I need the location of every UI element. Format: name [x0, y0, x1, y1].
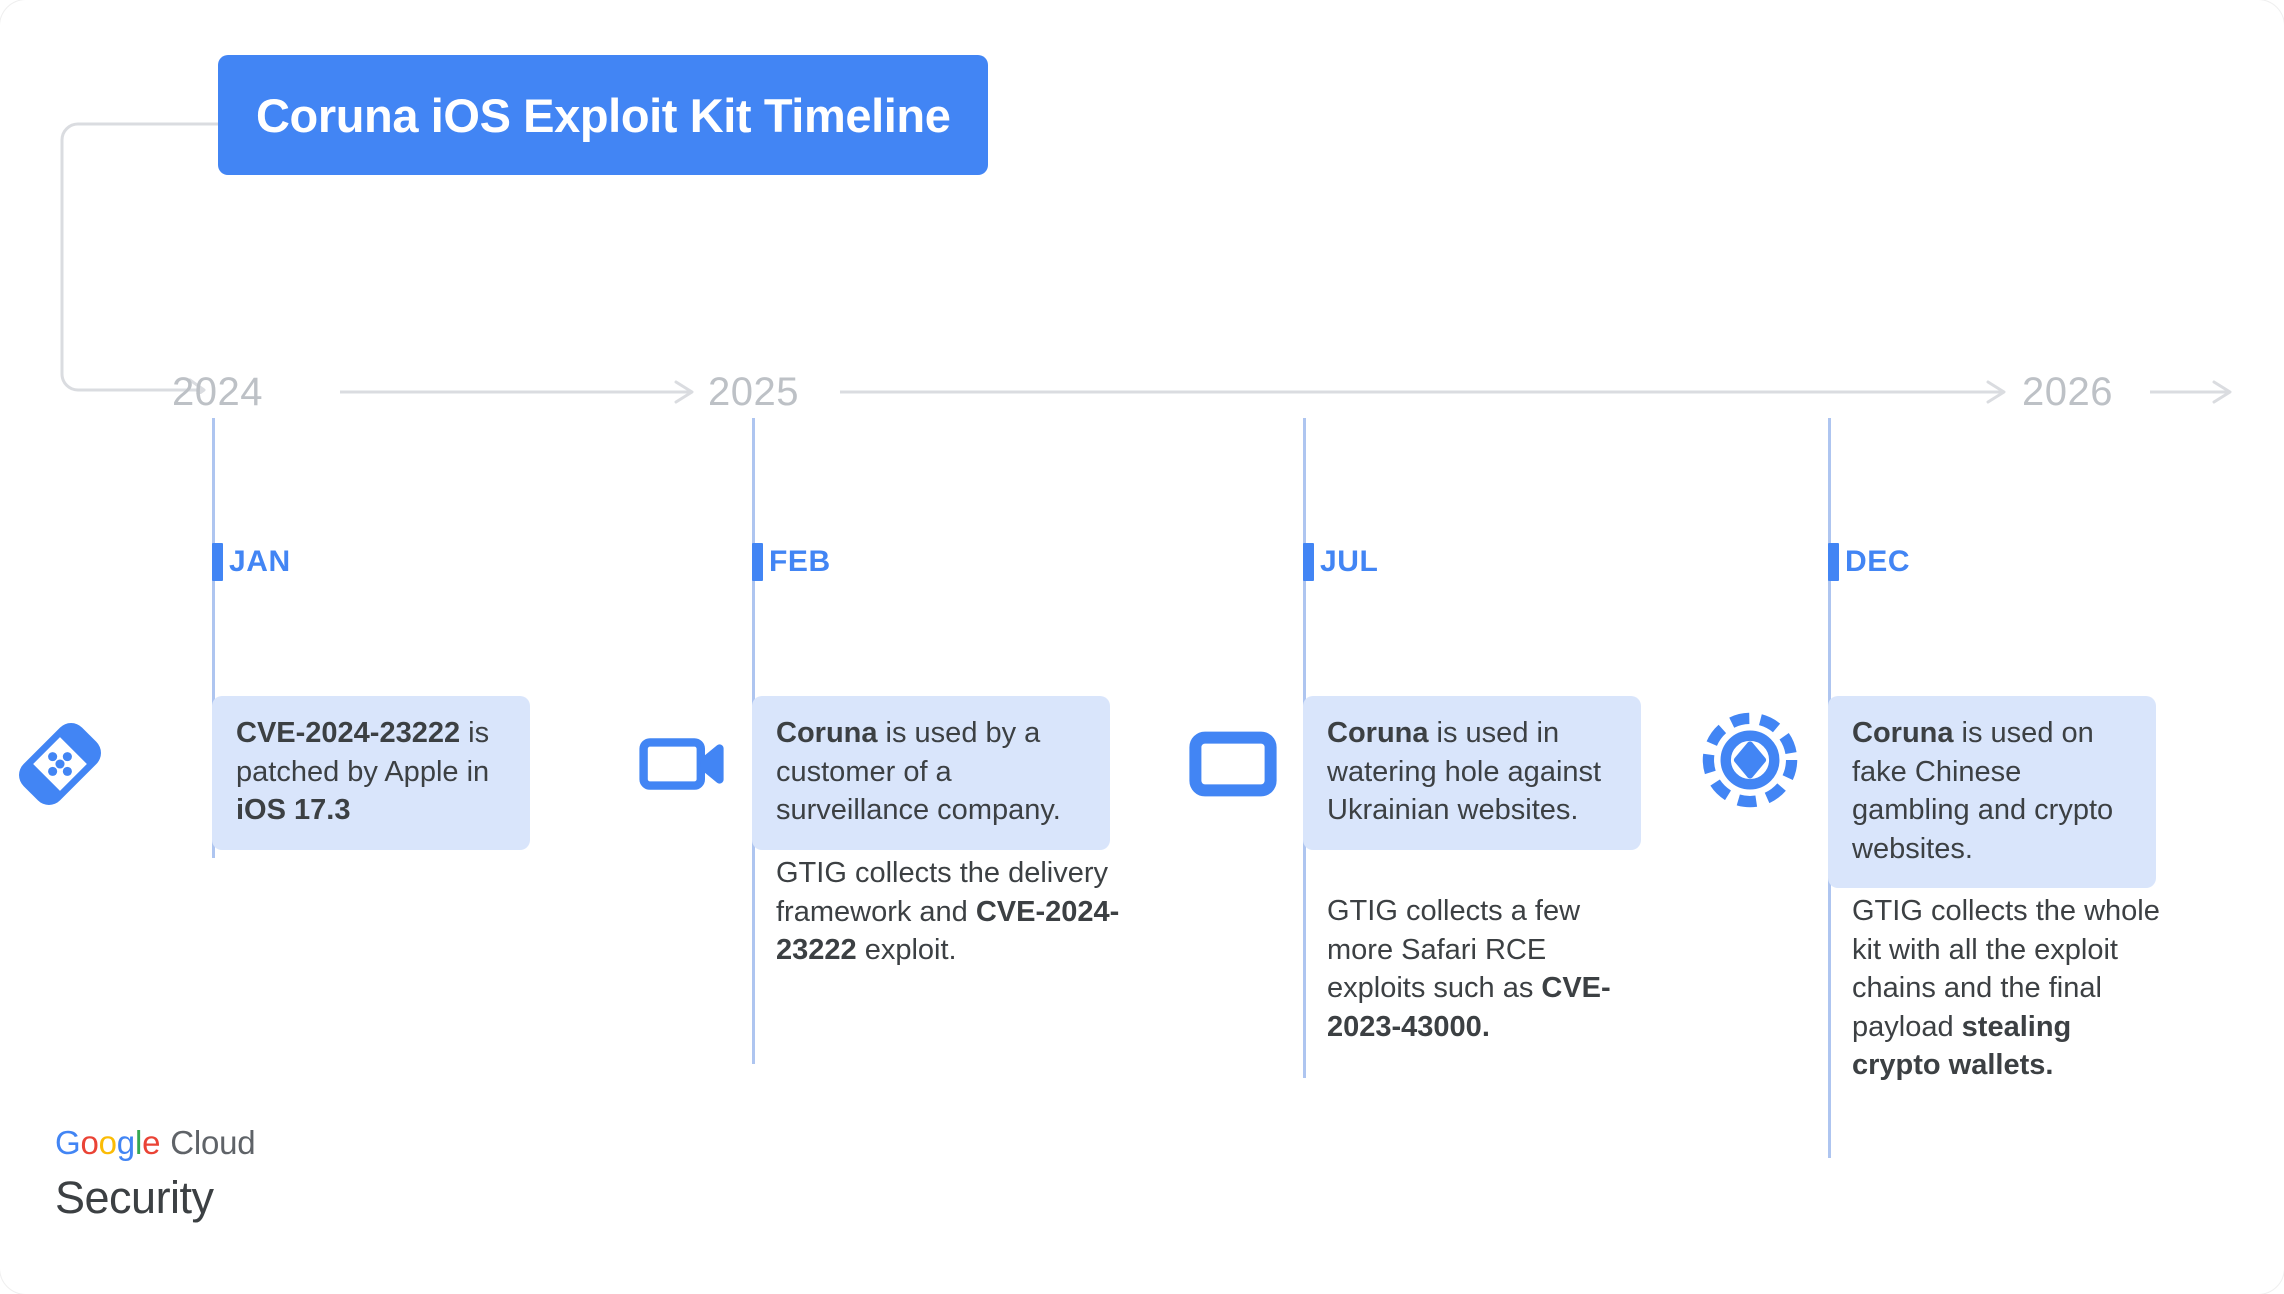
product-name: Security	[55, 1173, 255, 1223]
month-label: DEC	[1845, 547, 1910, 577]
casino-chip-icon	[1698, 708, 1802, 812]
month-marker-feb: FEB	[752, 543, 831, 581]
bandage-patch-icon	[8, 712, 112, 816]
google-letter-g1: G	[55, 1124, 80, 1161]
month-marker-jan: JAN	[212, 543, 291, 581]
event-card-text: Coruna is used by a customer of a survei…	[776, 717, 1061, 826]
cloud-word: Cloud	[170, 1124, 255, 1161]
month-marker-dec: DEC	[1828, 543, 1910, 581]
event-card-feb: Coruna is used by a customer of a survei…	[752, 696, 1110, 850]
event-card-dec: Coruna is used on fake Chinese gambling …	[1828, 696, 2156, 888]
event-icon-slot	[1690, 700, 1810, 820]
google-letter-o1: o	[80, 1124, 98, 1161]
event-card-text: Coruna is used on fake Chinese gambling …	[1852, 717, 2113, 865]
month-tick-icon	[752, 543, 763, 581]
footer-logo: GoogleCloud Security	[55, 1125, 255, 1223]
year-label-2026: 2026	[2022, 362, 2113, 422]
month-label: JAN	[229, 547, 291, 577]
event-subtext-dec: GTIG collects the whole kit with all the…	[1828, 892, 2166, 1085]
event-icon-slot	[622, 704, 742, 824]
event-subtext-jul: GTIG collects a few more Safari RCE expl…	[1303, 892, 1651, 1046]
google-letter-o2: o	[99, 1124, 117, 1161]
month-tick-icon	[212, 543, 223, 581]
event-card-jan: CVE-2024-23222 is patched by Apple in iO…	[212, 696, 530, 850]
month-label: JUL	[1320, 547, 1378, 577]
browser-window-icon	[1185, 716, 1281, 812]
google-letter-g2: g	[117, 1124, 135, 1161]
event-card-text: Coruna is used in watering hole against …	[1327, 717, 1601, 826]
event-icon-slot	[1173, 704, 1293, 824]
video-camera-icon	[634, 716, 730, 812]
event-subtext-feb: GTIG collects the delivery framework and…	[752, 854, 1120, 970]
google-letter-l: l	[135, 1124, 142, 1161]
month-tick-icon	[1828, 543, 1839, 581]
event-card-text: CVE-2024-23222 is patched by Apple in iO…	[236, 717, 489, 826]
month-label: FEB	[769, 547, 831, 577]
event-subtext-text: GTIG collects the delivery framework and…	[776, 857, 1119, 966]
event-subtext-text: GTIG collects the whole kit with all the…	[1852, 895, 2160, 1081]
elbow-connector	[52, 122, 232, 394]
year-label-2025: 2025	[708, 362, 799, 422]
month-tick-icon	[1303, 543, 1314, 581]
month-marker-jul: JUL	[1303, 543, 1378, 581]
timeline-infographic: Coruna iOS Exploit Kit Timeline 2024 202…	[0, 0, 2284, 1294]
event-card-jul: Coruna is used in watering hole against …	[1303, 696, 1641, 850]
event-icon-slot	[0, 704, 120, 824]
page-title: Coruna iOS Exploit Kit Timeline	[218, 55, 988, 175]
page-title-text: Coruna iOS Exploit Kit Timeline	[256, 92, 950, 139]
event-subtext-text: GTIG collects a few more Safari RCE expl…	[1327, 895, 1611, 1043]
google-letter-e: e	[142, 1124, 160, 1161]
google-cloud-wordmark: GoogleCloud	[55, 1125, 255, 1161]
year-label-2024: 2024	[172, 362, 263, 422]
year-axis: 2024 2025 2026	[0, 362, 2284, 422]
